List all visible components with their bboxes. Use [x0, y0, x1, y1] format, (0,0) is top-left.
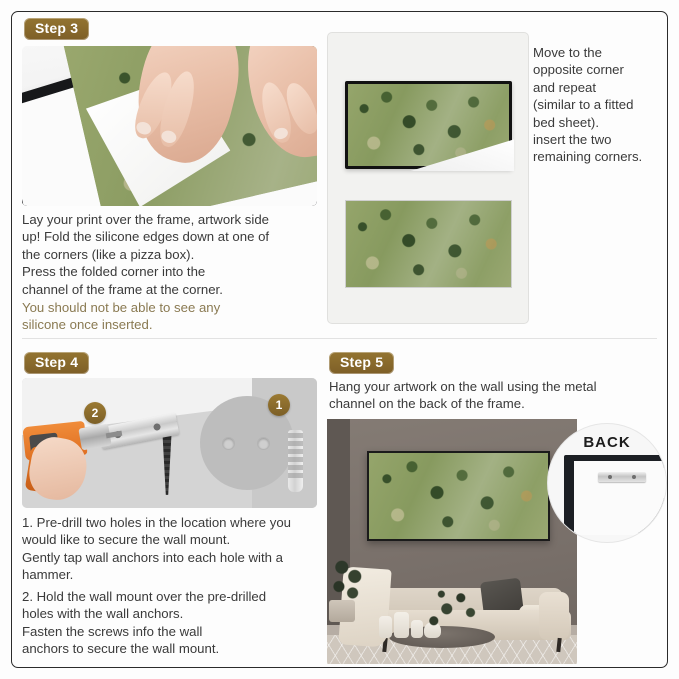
hung-artwork-frame	[367, 451, 550, 541]
step-4-instruction-2: 2. Hold the wall mount over the pre-dril…	[22, 588, 327, 658]
metal-channel-bracket	[598, 472, 646, 482]
wall-anchor	[288, 430, 303, 492]
step-3-badge: Step 3	[24, 18, 89, 40]
framed-artwork-thumb-wrap	[345, 81, 512, 169]
potted-plant	[331, 558, 367, 604]
candle-vase	[394, 612, 409, 638]
step-4-badge: Step 4	[24, 352, 89, 374]
fingernail	[273, 126, 289, 140]
fingernail	[160, 129, 178, 145]
candle-vase	[379, 616, 392, 638]
step-4-instruction-1: 1. Pre-drill two holes in the location w…	[22, 514, 327, 584]
back-label: BACK	[548, 434, 666, 451]
step-4-photo: 1 2	[22, 378, 317, 508]
hung-landscape-artwork	[369, 453, 548, 539]
step-3-instructions-highlight: You should not be able to see any silico…	[22, 299, 322, 334]
sofa-right-arm	[539, 592, 569, 640]
fingernail	[135, 120, 153, 137]
section-divider	[22, 338, 657, 339]
step-3-side-note: Move to the opposite corner and repeat (…	[533, 44, 663, 166]
step-5-instructions: Hang your artwork on the wall using the …	[329, 378, 659, 413]
branch-arrangement	[423, 584, 477, 630]
step-3-photo	[22, 46, 317, 206]
step-5-badge: Step 5	[329, 352, 394, 374]
instruction-sheet-page: Step 3 Lay your print over the frame, ar…	[0, 0, 679, 679]
step-marker-1: 1	[268, 394, 290, 416]
step-3-badge-wrap: Step 3	[24, 18, 324, 40]
flat-artwork-thumb-wrap	[345, 200, 512, 288]
step-5-badge-wrap: Step 5	[329, 352, 394, 374]
step-4-badge-wrap: Step 4	[24, 352, 89, 374]
candle-vase	[411, 620, 423, 638]
step-marker-2: 2	[84, 402, 106, 424]
frame-back-metal-channel-callout: BACK	[548, 424, 666, 542]
step-5-photo	[327, 419, 577, 664]
flat-landscape-artwork-print	[346, 201, 511, 287]
step-3-instructions: Lay your print over the frame, artwork s…	[22, 211, 322, 298]
step-3-artwork-panel	[327, 32, 529, 324]
pre-drilled-hole	[222, 437, 235, 450]
pre-drilled-hole	[257, 437, 270, 450]
